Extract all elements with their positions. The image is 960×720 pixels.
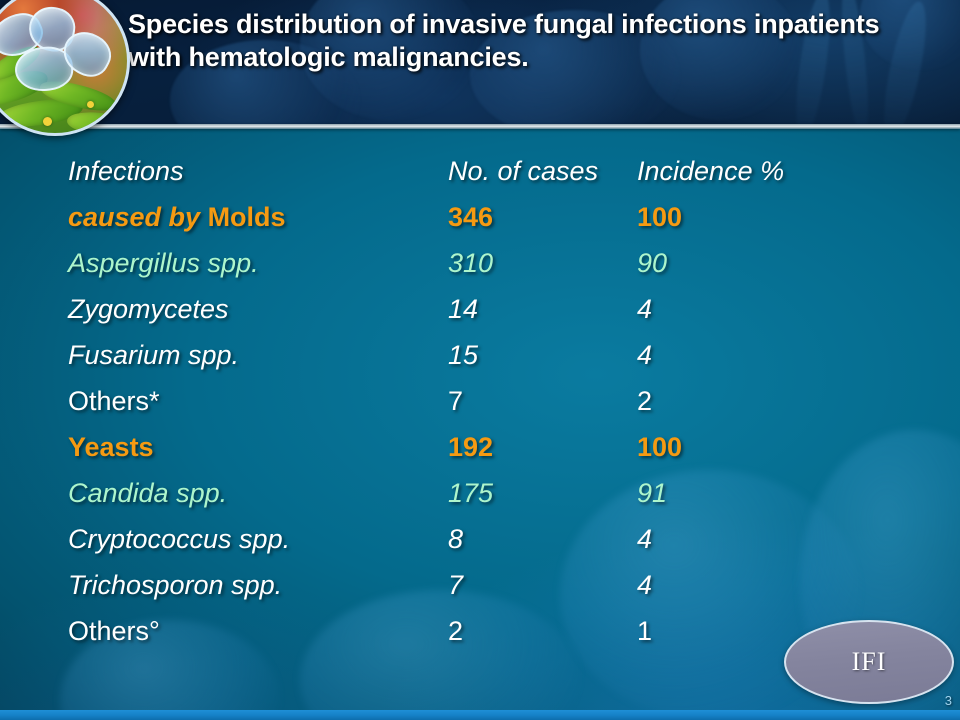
row-incidence: 4 bbox=[637, 526, 928, 553]
ifi-badge-label: IFI bbox=[852, 647, 887, 677]
row-label-aspergillus: Aspergillus spp. bbox=[68, 250, 448, 277]
row-cases: 7 bbox=[448, 388, 637, 415]
species-distribution-table: Infections No. of cases Incidence % caus… bbox=[68, 158, 928, 664]
row-label-cryptococcus: Cryptococcus spp. bbox=[68, 526, 448, 553]
table-row: Candida spp. 175 91 bbox=[68, 480, 928, 526]
row-incidence: 4 bbox=[637, 296, 928, 323]
row-incidence: 4 bbox=[637, 572, 928, 599]
row-label-others-yeasts: Others° bbox=[68, 618, 448, 645]
bottom-accent-strip bbox=[0, 710, 960, 720]
ifi-badge: IFI bbox=[784, 620, 954, 704]
row-label-trichosporon: Trichosporon spp. bbox=[68, 572, 448, 599]
row-label-molds: caused by Molds bbox=[68, 204, 448, 231]
row-label-zygomycetes: Zygomycetes bbox=[68, 296, 448, 323]
row-incidence: 4 bbox=[637, 342, 928, 369]
table-row: Others* 7 2 bbox=[68, 388, 928, 434]
micrograph-granule bbox=[43, 117, 52, 126]
table-row: Trichosporon spp. 7 4 bbox=[68, 572, 928, 618]
column-header-infections: Infections bbox=[68, 158, 448, 185]
row-label-candida: Candida spp. bbox=[68, 480, 448, 507]
row-incidence: 91 bbox=[637, 480, 928, 507]
table-row: caused by Molds 346 100 bbox=[68, 204, 928, 250]
row-cases: 310 bbox=[448, 250, 637, 277]
row-incidence: 2 bbox=[637, 388, 928, 415]
row-label-fusarium: Fusarium spp. bbox=[68, 342, 448, 369]
table-row: Fusarium spp. 15 4 bbox=[68, 342, 928, 388]
row-incidence: 100 bbox=[637, 204, 928, 231]
row-cases: 192 bbox=[448, 434, 637, 461]
row-cases: 175 bbox=[448, 480, 637, 507]
page-title: Species distribution of invasive fungal … bbox=[128, 8, 888, 74]
table-row: Yeasts 192 100 bbox=[68, 434, 928, 480]
table-header-row: Infections No. of cases Incidence % bbox=[68, 158, 928, 204]
row-cases: 2 bbox=[448, 618, 637, 645]
row-cases: 14 bbox=[448, 296, 637, 323]
fungal-micrograph-icon bbox=[0, 0, 130, 136]
row-cases: 8 bbox=[448, 526, 637, 553]
table-row: Aspergillus spp. 310 90 bbox=[68, 250, 928, 296]
slide-root: Species distribution of invasive fungal … bbox=[0, 0, 960, 720]
micrograph-granule bbox=[87, 101, 94, 108]
table-row: Cryptococcus spp. 8 4 bbox=[68, 526, 928, 572]
table-row: Zygomycetes 14 4 bbox=[68, 296, 928, 342]
row-cases: 15 bbox=[448, 342, 637, 369]
molds-word-text: Molds bbox=[208, 202, 286, 232]
row-label-others-molds: Others* bbox=[68, 388, 448, 415]
row-label-yeasts: Yeasts bbox=[68, 434, 448, 461]
column-header-no-of-cases: No. of cases bbox=[448, 158, 637, 185]
molds-prefix-text: caused by bbox=[68, 202, 208, 232]
header-divider-rule bbox=[0, 124, 960, 129]
row-cases: 346 bbox=[448, 204, 637, 231]
row-incidence: 100 bbox=[637, 434, 928, 461]
row-incidence: 90 bbox=[637, 250, 928, 277]
row-cases: 7 bbox=[448, 572, 637, 599]
page-number: 3 bbox=[945, 693, 952, 708]
column-header-incidence: Incidence % bbox=[637, 158, 928, 185]
